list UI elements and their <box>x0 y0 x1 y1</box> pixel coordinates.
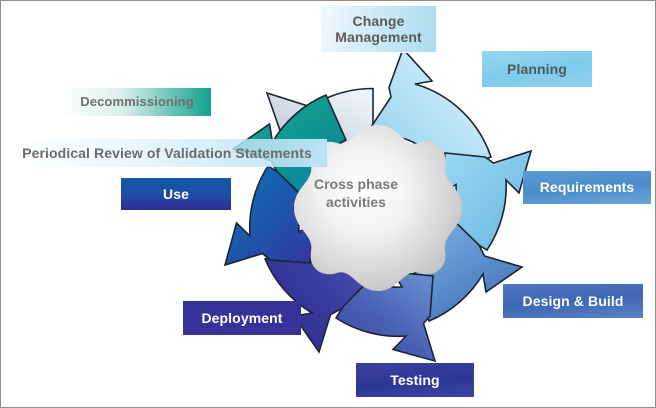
label-requirements[interactable]: Requirements <box>523 171 651 204</box>
label-planning[interactable]: Planning <box>482 51 592 87</box>
label-periodical-review[interactable]: Periodical Review of Validation Statemen… <box>7 139 327 167</box>
label-design-build[interactable]: Design & Build <box>503 284 643 318</box>
diagram-frame: Cross phase activities Change Management… <box>0 0 656 408</box>
label-use[interactable]: Use <box>121 178 231 210</box>
label-change-management[interactable]: Change Management <box>321 6 436 52</box>
label-deployment[interactable]: Deployment <box>183 301 301 335</box>
label-testing[interactable]: Testing <box>356 363 474 397</box>
label-decommissioning[interactable]: Decommissioning <box>63 88 211 116</box>
